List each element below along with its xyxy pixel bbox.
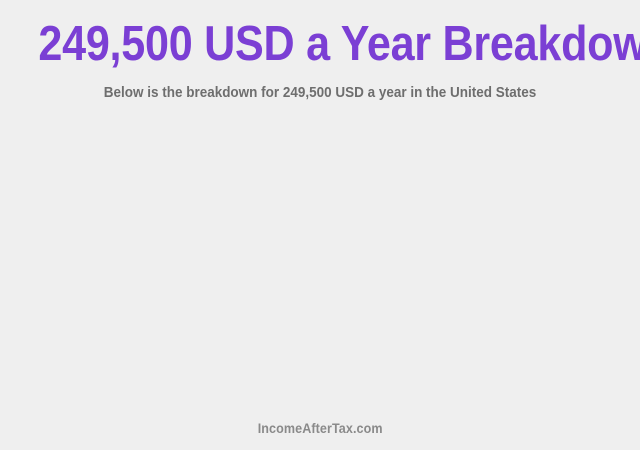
chart-canvas xyxy=(0,115,640,410)
page-footer: IncomeAfterTax.com xyxy=(0,420,640,438)
page-title: 249,500 USD a Year Breakdown xyxy=(38,18,601,70)
chart-area xyxy=(0,115,640,410)
page-root: 249,500 USD a Year Breakdown Below is th… xyxy=(0,0,640,450)
page-subtitle: Below is the breakdown for 249,500 USD a… xyxy=(22,85,617,102)
site-watermark: IncomeAfterTax.com xyxy=(258,421,383,437)
